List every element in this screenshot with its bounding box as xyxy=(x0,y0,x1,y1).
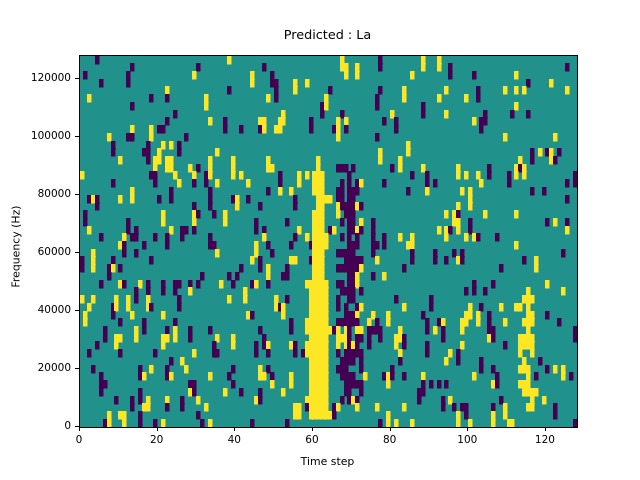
heatmap-image xyxy=(80,56,577,427)
y-tick-mark xyxy=(75,252,79,253)
y-tick-label: 80000 xyxy=(1,188,71,200)
y-tick-mark xyxy=(75,368,79,369)
y-tick-label: 120000 xyxy=(1,72,71,84)
x-tick-label: 60 xyxy=(305,434,318,446)
y-tick-label: 40000 xyxy=(1,304,71,316)
x-tick-mark xyxy=(79,427,80,431)
x-tick-mark xyxy=(467,427,468,431)
x-tick-label: 100 xyxy=(457,434,477,446)
y-tick-mark xyxy=(75,426,79,427)
x-tick-mark xyxy=(234,427,235,431)
figure-canvas: Predicted : La Frequency (Hz) 0200004000… xyxy=(0,0,640,480)
x-tick-mark xyxy=(157,427,158,431)
x-tick-mark xyxy=(545,427,546,431)
x-tick-label: 80 xyxy=(383,434,396,446)
heatmap-plot-area xyxy=(79,55,578,428)
y-tick-mark xyxy=(75,310,79,311)
x-tick-label: 0 xyxy=(76,434,83,446)
y-tick-label: 20000 xyxy=(1,362,71,374)
x-tick-label: 40 xyxy=(228,434,241,446)
y-tick-label: 0 xyxy=(1,420,71,432)
x-tick-mark xyxy=(390,427,391,431)
y-tick-mark xyxy=(75,194,79,195)
y-tick-mark xyxy=(75,78,79,79)
x-tick-label: 120 xyxy=(535,434,555,446)
x-axis-label: Time step xyxy=(79,455,576,468)
x-tick-label: 20 xyxy=(150,434,163,446)
page-title: Predicted : La xyxy=(79,28,576,43)
y-tick-mark xyxy=(75,136,79,137)
y-tick-label: 100000 xyxy=(1,130,71,142)
x-tick-mark xyxy=(312,427,313,431)
y-tick-label: 60000 xyxy=(1,246,71,258)
